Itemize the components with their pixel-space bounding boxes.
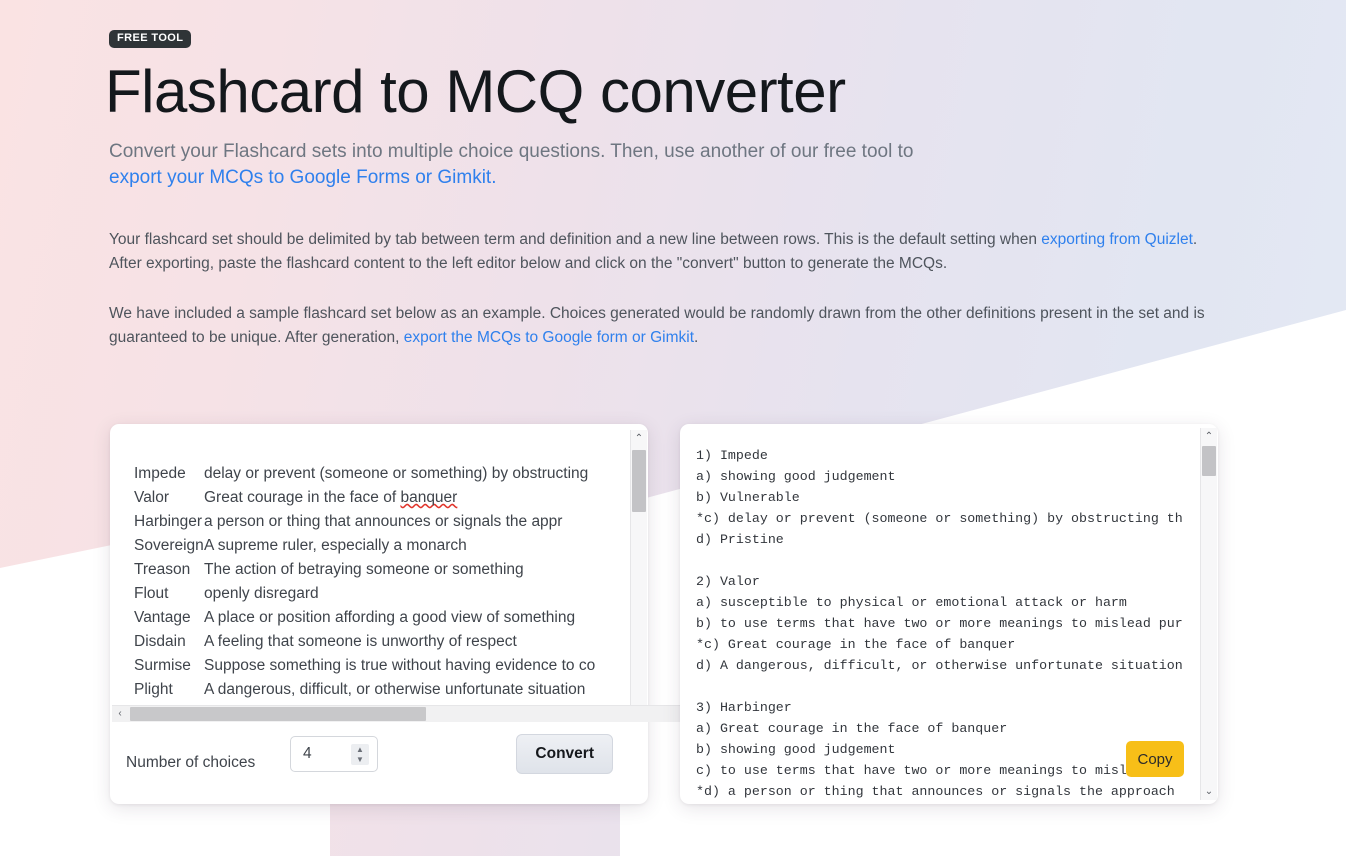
subtitle-text: Convert your Flashcard sets into multipl… (109, 141, 913, 162)
flashcard-term: Treason (134, 558, 204, 582)
output-vscroll-thumb[interactable] (1202, 446, 1216, 476)
flashcard-term: Impede (134, 462, 204, 486)
flashcard-row: ValorGreat courage in the face of banque… (134, 486, 648, 510)
intro-p2-after: . (694, 329, 698, 346)
export-tool-link[interactable]: export your MCQs to Google Forms or Gimk… (109, 167, 497, 188)
editor-vscroll-thumb[interactable] (632, 450, 646, 512)
intro-paragraph-2: We have included a sample flashcard set … (109, 302, 1205, 351)
spellcheck-underline: banquer (400, 489, 457, 506)
flashcard-term: Flout (134, 582, 204, 606)
mcq-output-card: 1) Impede a) showing good judgement b) V… (680, 424, 1218, 804)
copy-button[interactable]: Copy (1126, 741, 1184, 777)
flashcard-row: VantageA place or position affording a g… (134, 606, 648, 630)
flashcard-editor[interactable]: Impededelay or prevent (someone or somet… (110, 424, 648, 722)
flashcard-definition: delay or prevent (someone or something) … (204, 465, 588, 482)
scroll-left-icon[interactable]: ‹ (112, 706, 128, 722)
flashcard-input-card: Impededelay or prevent (someone or somet… (110, 424, 648, 804)
flashcard-row: Floutopenly disregard (134, 582, 648, 606)
scroll-up-icon[interactable]: ⌃ (631, 430, 647, 447)
convert-button[interactable]: Convert (516, 734, 613, 774)
flashcard-definition: A supreme ruler, especially a monarch (204, 537, 467, 554)
flashcard-row: Harbingera person or thing that announce… (134, 510, 648, 534)
editor-hscroll-thumb[interactable] (130, 707, 426, 721)
flashcard-row: TreasonThe action of betraying someone o… (134, 558, 648, 582)
stepper-chevrons-icon[interactable]: ▲ ▼ (351, 744, 369, 765)
intro-paragraph-1: Your flashcard set should be delimited b… (109, 228, 1205, 277)
free-tool-badge: FREE TOOL (109, 30, 191, 48)
flashcard-term: Vantage (134, 606, 204, 630)
quizlet-export-link[interactable]: exporting from Quizlet (1041, 231, 1193, 248)
scroll-up-icon[interactable]: ⌃ (1201, 428, 1217, 445)
flashcard-term: Valor (134, 486, 204, 510)
flashcard-term: Sovereign (134, 534, 204, 558)
page-root: FREE TOOL Flashcard to MCQ converter Con… (0, 0, 1346, 856)
stepper-up-icon[interactable]: ▲ (356, 745, 364, 754)
intro-p1-before: Your flashcard set should be delimited b… (109, 231, 1041, 248)
stepper-down-icon[interactable]: ▼ (356, 755, 364, 764)
flashcard-term: Surmise (134, 654, 204, 678)
number-of-choices-value[interactable]: 4 (303, 745, 312, 763)
google-form-gimkit-link[interactable]: export the MCQs to Google form or Gimkit (404, 329, 694, 346)
flashcard-editor-content[interactable]: Impededelay or prevent (someone or somet… (134, 462, 648, 702)
flashcard-row: SovereignA supreme ruler, especially a m… (134, 534, 648, 558)
flashcard-term: Disdain (134, 630, 204, 654)
flashcard-definition: A place or position affording a good vie… (204, 609, 575, 626)
flashcard-row: SurmiseSuppose something is true without… (134, 654, 648, 678)
scroll-down-icon[interactable]: ⌄ (1201, 783, 1217, 800)
output-vertical-scrollbar[interactable]: ⌃ ⌄ (1200, 428, 1217, 800)
editor-vertical-scrollbar[interactable]: ⌃ ⌄ (630, 430, 647, 722)
intro-paragraphs: Your flashcard set should be delimited b… (109, 228, 1205, 376)
flashcard-row: Impededelay or prevent (someone or somet… (134, 462, 648, 486)
flashcard-definition: A feeling that someone is unworthy of re… (204, 633, 517, 650)
number-of-choices-label: Number of choices (126, 754, 255, 772)
flashcard-definition: The action of betraying someone or somet… (204, 561, 524, 578)
page-subtitle: Convert your Flashcard sets into multipl… (109, 139, 1069, 191)
flashcard-definition: a person or thing that announces or sign… (204, 513, 562, 530)
number-of-choices-stepper[interactable]: 4 ▲ ▼ (290, 736, 378, 772)
flashcard-term: Harbinger (134, 510, 204, 534)
flashcard-definition: openly disregard (204, 585, 319, 602)
editor-controls: Number of choices 4 ▲ ▼ Convert (110, 724, 648, 804)
page-header: FREE TOOL Flashcard to MCQ converter Con… (109, 28, 1249, 192)
editor-horizontal-scrollbar[interactable]: ‹ › (112, 705, 740, 722)
flashcard-term: Plight (134, 678, 204, 702)
flashcard-definition: Great courage in the face of banquer (204, 489, 457, 506)
flashcard-row: PlightA dangerous, difficult, or otherwi… (134, 678, 648, 702)
flashcard-definition: A dangerous, difficult, or otherwise unf… (204, 681, 585, 698)
flashcard-definition: Suppose something is true without having… (204, 657, 595, 674)
flashcard-row: DisdainA feeling that someone is unworth… (134, 630, 648, 654)
page-title: Flashcard to MCQ converter (105, 58, 1249, 125)
